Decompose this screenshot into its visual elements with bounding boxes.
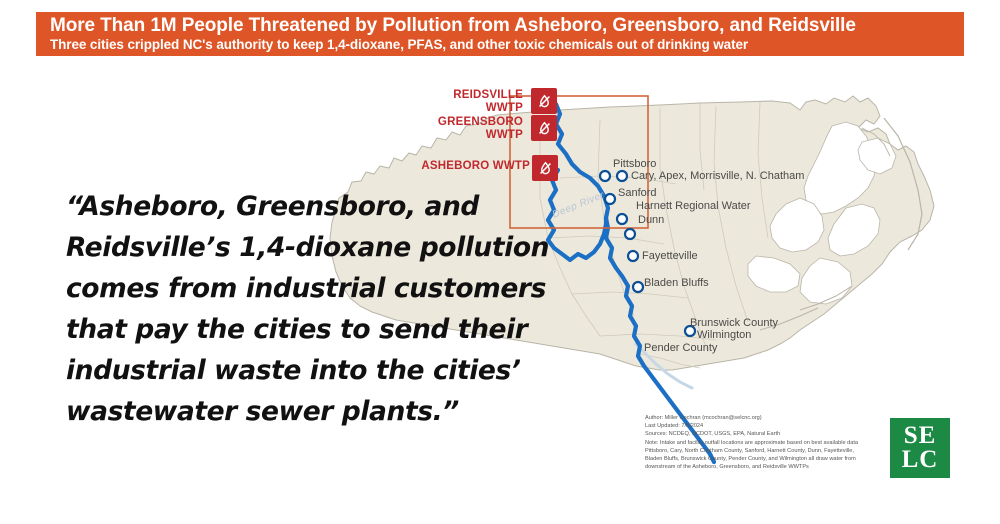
- wwtp-label-reidsville-line2: WWTP: [486, 102, 523, 114]
- credits-sources: Sources: NCDEQ, NCDOT, USGS, EPA, Natura…: [645, 430, 895, 438]
- no-water-drop-icon: [536, 120, 553, 137]
- banner-title: More Than 1M People Threatened by Pollut…: [50, 16, 954, 36]
- no-water-drop-icon: [537, 160, 554, 177]
- wwtp-label-greensboro-line1: GREENSBORO: [438, 116, 523, 128]
- city-label-dunn: Dunn: [638, 214, 664, 226]
- selc-logo-row-2: LC: [902, 448, 939, 472]
- intake-marker-pittsboro: [600, 171, 610, 181]
- intake-marker-bladen-bluffs: [633, 282, 643, 292]
- pull-quote: “Asheboro, Greensboro, and Reidsville’s …: [66, 186, 546, 432]
- credits-last-updated: Last Updated: 7/8/2024: [645, 422, 895, 430]
- selc-logo: SE LC: [890, 418, 950, 478]
- wwtp-label-greensboro-line2: WWTP: [486, 129, 523, 141]
- credits-note-line-3: Bladen Bluffs, Brunswick County, Pender …: [645, 455, 895, 463]
- selc-logo-row-1: SE: [904, 424, 937, 448]
- city-label-brunswick-county: Brunswick County: [690, 317, 778, 329]
- quote-line-1: “Asheboro, Greensboro, and: [66, 186, 546, 227]
- quote-line-4: that pay the cities to send their: [66, 309, 546, 350]
- quote-line-2: Reidsville’s 1,4-dioxane pollution: [66, 227, 546, 268]
- city-label-pender-county: Pender County: [644, 342, 717, 354]
- credits-block: Author: Miller Cochran (mcochran@selcnc.…: [645, 414, 895, 471]
- header-banner: More Than 1M People Threatened by Pollut…: [36, 12, 964, 56]
- wwtp-marker-greensboro[interactable]: [531, 115, 557, 141]
- city-label-wilmington: Wilmington: [697, 329, 751, 341]
- infographic-page: More Than 1M People Threatened by Pollut…: [0, 0, 1000, 524]
- quote-line-3: comes from industrial customers: [66, 268, 546, 309]
- city-label-sanford: Sanford: [618, 187, 657, 199]
- banner-subtitle: Three cities crippled NC's authority to …: [50, 37, 954, 53]
- quote-line-5: industrial waste into the cities’: [66, 350, 546, 391]
- wwtp-marker-reidsville[interactable]: [531, 88, 557, 114]
- intake-marker-fayetteville: [628, 251, 638, 261]
- city-label-harnett-regional-water: Harnett Regional Water: [636, 200, 751, 212]
- intake-marker-dunn: [625, 229, 635, 239]
- intake-marker-harnett: [617, 214, 627, 224]
- credits-note-line-4: downstream of the Asheboro, Greensboro, …: [645, 463, 895, 471]
- wwtp-marker-asheboro[interactable]: [532, 155, 558, 181]
- wwtp-label-greensboro: GREENSBORO WWTP: [408, 116, 523, 142]
- city-label-cary-apex: Cary, Apex, Morrisville, N. Chatham: [631, 170, 804, 182]
- wwtp-label-asheboro: ASHEBORO WWTP: [388, 160, 530, 173]
- city-label-pittsboro: Pittsboro: [613, 158, 656, 170]
- intake-marker-sanford: [605, 194, 615, 204]
- credits-note-line-1: Note: Intake and facility outfall locati…: [645, 439, 895, 447]
- credits-author: Author: Miller Cochran (mcochran@selcnc.…: [645, 414, 895, 422]
- city-label-bladen-bluffs: Bladen Bluffs: [644, 277, 709, 289]
- quote-line-6: wastewater sewer plants.”: [66, 391, 546, 432]
- credits-note-line-2: Pittsboro, Cary, North Chatham County, S…: [645, 447, 895, 455]
- intake-marker-cary: [617, 171, 627, 181]
- wwtp-label-reidsville: REIDSVILLE WWTP: [423, 89, 523, 115]
- city-label-fayetteville: Fayetteville: [642, 250, 698, 262]
- wwtp-label-asheboro-line1: ASHEBORO WWTP: [421, 160, 530, 172]
- no-water-drop-icon: [536, 93, 553, 110]
- wwtp-label-reidsville-line1: REIDSVILLE: [453, 89, 523, 101]
